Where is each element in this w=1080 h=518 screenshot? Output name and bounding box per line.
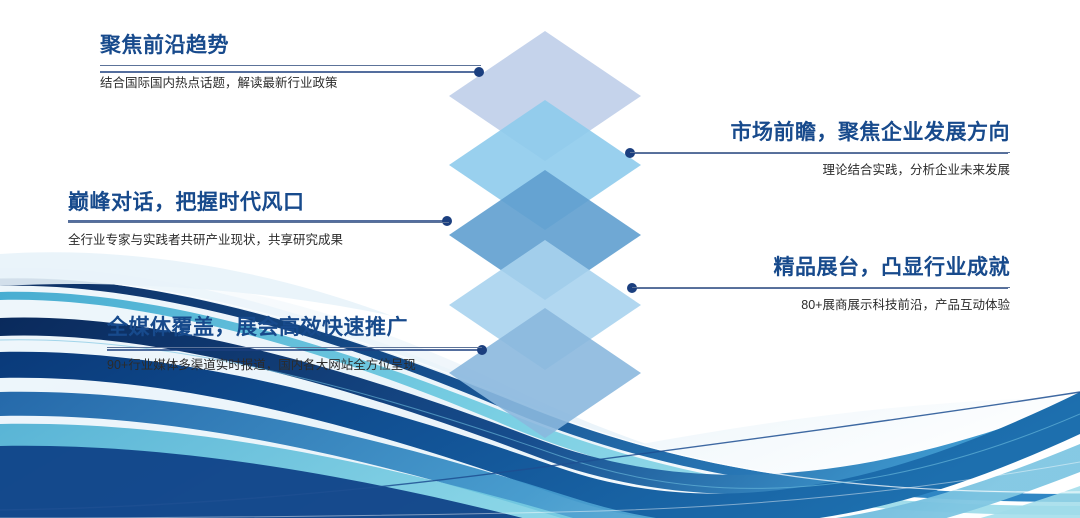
feature-item-market-outlook: 市场前瞻，聚焦企业发展方向 理论结合实践，分析企业未来发展	[630, 120, 1010, 179]
feature-divider	[107, 347, 482, 348]
feature-item-focus-frontier-trends: 聚焦前沿趋势 结合国际国内热点话题，解读最新行业政策	[100, 33, 481, 92]
feature-headline: 全媒体覆盖，展会高效快速推广	[107, 315, 482, 341]
feature-subtitle: 90+行业媒体多渠道实时报道，国内各大网站全方位呈现	[107, 357, 482, 373]
feature-headline: 巅峰对话，把握时代风口	[68, 190, 449, 216]
feature-headline: 聚焦前沿趋势	[100, 33, 481, 59]
feature-divider	[100, 65, 481, 66]
diamond-shape-3	[449, 170, 641, 300]
feature-subtitle: 结合国际国内热点话题，解读最新行业政策	[100, 75, 481, 91]
feature-item-premium-booth: 精品展台，凸显行业成就 80+展商展示科技前沿，产品互动体验	[632, 255, 1010, 314]
feature-subtitle: 全行业专家与实践者共研产业现状，共享研究成果	[68, 232, 449, 248]
feature-headline: 市场前瞻，聚焦企业发展方向	[630, 120, 1010, 146]
feature-divider	[630, 152, 1010, 153]
feature-divider	[632, 287, 1010, 288]
feature-item-full-media-coverage: 全媒体覆盖，展会高效快速推广 90+行业媒体多渠道实时报道，国内各大网站全方位呈…	[107, 315, 482, 374]
feature-headline: 精品展台，凸显行业成就	[632, 255, 1010, 281]
feature-item-summit-dialogue: 巅峰对话，把握时代风口 全行业专家与实践者共研产业现状，共享研究成果	[68, 190, 449, 249]
diamond-shape-2	[449, 100, 641, 230]
feature-subtitle: 理论结合实践，分析企业未来发展	[630, 162, 1010, 178]
feature-subtitle: 80+展商展示科技前沿，产品互动体验	[632, 297, 1010, 313]
feature-divider	[68, 222, 449, 223]
infographic-canvas: 聚焦前沿趋势 结合国际国内热点话题，解读最新行业政策 市场前瞻，聚焦企业发展方向…	[0, 0, 1080, 518]
